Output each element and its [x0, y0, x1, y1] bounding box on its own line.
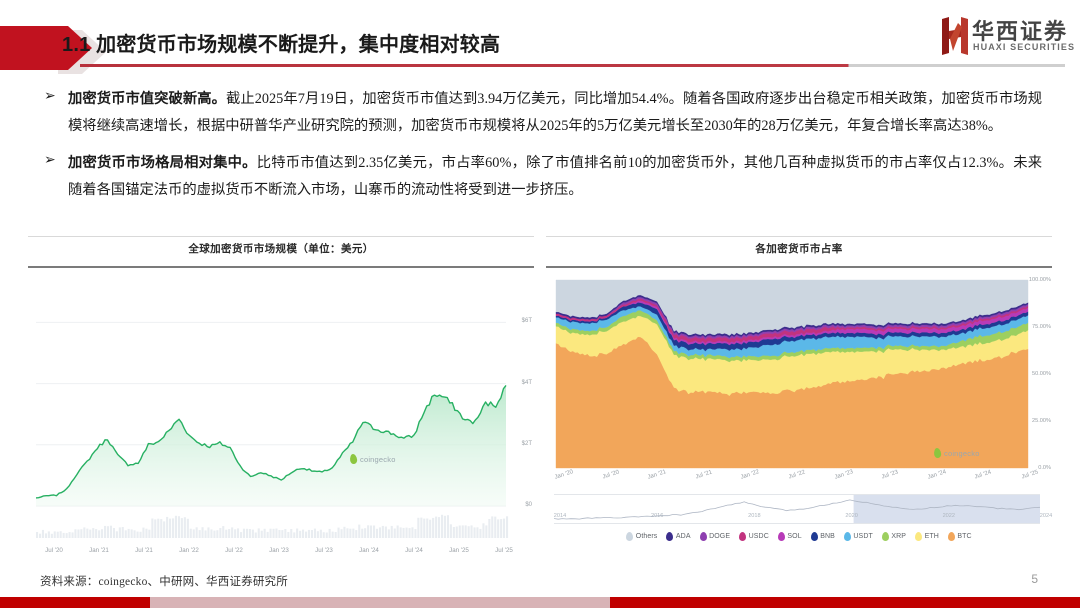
- slide-header: 1.1 加密货币市场规模不断提升，集中度相对较高 华西证券 HUAXI SECU…: [0, 0, 1080, 78]
- volume-bar: [172, 518, 174, 538]
- volume-bar: [468, 526, 470, 538]
- volume-bar: [379, 527, 381, 538]
- legend-swatch-icon: [700, 532, 707, 541]
- volume-bar: [60, 531, 62, 538]
- volume-bar: [432, 518, 434, 538]
- coingecko-watermark: coingecko: [350, 454, 396, 464]
- volume-bar: [414, 529, 416, 538]
- volume-bar: [86, 529, 88, 538]
- volume-bar: [462, 525, 464, 538]
- panel-divider-bottom: [28, 266, 534, 268]
- legend-label: SOL: [787, 533, 801, 540]
- x-axis-tick-label: Jul '20: [45, 547, 63, 554]
- volume-bar: [394, 529, 396, 539]
- volume-bar: [403, 528, 405, 538]
- legend-item-xrp[interactable]: XRP: [882, 532, 906, 541]
- volume-bar: [426, 519, 428, 539]
- volume-bar: [110, 526, 112, 538]
- volume-bar: [178, 516, 180, 538]
- legend-swatch-icon: [811, 532, 818, 541]
- volume-bar: [308, 530, 310, 538]
- y-axis-tick-label: 25.00%: [1032, 418, 1051, 424]
- volume-bar: [213, 531, 215, 538]
- volume-bar: [323, 532, 325, 538]
- volume-bar: [290, 529, 292, 538]
- title-underline: [80, 64, 1065, 67]
- market-cap-plot: [28, 286, 534, 556]
- dominance-chart[interactable]: 0.0%25.00%50.00%75.00%100.00% Jan '20Jul…: [546, 276, 1052, 494]
- coingecko-leaf-icon: [349, 454, 357, 465]
- volume-bar: [270, 529, 272, 538]
- x-axis-tick-label: Jan '25: [449, 547, 469, 554]
- legend-label: Others: [636, 533, 658, 540]
- legend-swatch-icon: [666, 532, 673, 541]
- legend-label: XRP: [891, 533, 906, 540]
- volume-bar: [503, 519, 505, 538]
- volume-bar: [140, 532, 142, 538]
- volume-bar: [181, 518, 183, 538]
- volume-bar: [497, 519, 499, 538]
- panel-divider-top: [546, 236, 1052, 237]
- legend-label: ADA: [676, 533, 691, 540]
- volume-bar: [131, 529, 133, 538]
- watermark-label: coingecko: [944, 449, 980, 458]
- volume-bar: [500, 519, 502, 538]
- volume-bar: [326, 533, 328, 539]
- volume-bar: [57, 532, 59, 538]
- list-item: ➢ 加密货币市值突破新高。截止2025年7月19日，加密货币市值达到3.94万亿…: [42, 86, 1042, 140]
- volume-bar: [122, 527, 124, 538]
- volume-bar: [352, 529, 354, 538]
- x-axis-tick-label: Jan '22: [179, 547, 199, 554]
- chart-caption: 各加密货币市占率: [546, 241, 1052, 256]
- volume-bar: [302, 530, 304, 538]
- volume-bar: [237, 528, 239, 538]
- legend-item-others[interactable]: Others: [626, 532, 657, 541]
- volume-bar: [284, 529, 286, 538]
- volume-bar: [193, 529, 195, 538]
- volume-bar: [476, 527, 478, 538]
- volume-bar: [281, 530, 283, 538]
- volume-bar: [72, 532, 74, 538]
- volume-bar: [409, 528, 411, 538]
- legend-item-btc[interactable]: BTC: [948, 532, 972, 541]
- volume-bar: [190, 529, 192, 538]
- volume-bar: [411, 527, 413, 538]
- volume-bar: [69, 532, 71, 538]
- volume-bar: [346, 528, 348, 538]
- legend-label: USDT: [853, 533, 872, 540]
- volume-bar: [494, 517, 496, 538]
- volume-bar: [258, 528, 260, 538]
- volume-bar: [243, 529, 245, 538]
- volume-bar: [107, 526, 109, 538]
- legend-item-ada[interactable]: ADA: [666, 532, 690, 541]
- volume-bar: [343, 527, 345, 538]
- volume-bar: [154, 519, 156, 538]
- volume-bar: [264, 529, 266, 538]
- volume-bar: [210, 529, 212, 538]
- x-axis-tick-label: Jul '24: [405, 547, 423, 554]
- legend-swatch-icon: [626, 532, 633, 541]
- volume-bar: [39, 534, 41, 538]
- volume-bar: [249, 529, 251, 538]
- volume-bar: [385, 527, 387, 539]
- volume-bar: [113, 528, 115, 538]
- volume-bar: [261, 531, 263, 538]
- volume-bar: [400, 527, 402, 538]
- volume-bar: [246, 529, 248, 538]
- volume-bar: [163, 521, 165, 538]
- volume-bar: [74, 529, 76, 538]
- y-axis-tick-label: 50.00%: [1032, 371, 1051, 377]
- volume-bar: [296, 529, 298, 539]
- volume-bar: [287, 532, 289, 538]
- x-axis-tick-label: Jan '24: [359, 547, 379, 554]
- volume-bar: [429, 520, 431, 538]
- volume-bar: [420, 518, 422, 538]
- volume-bar: [234, 529, 236, 538]
- volume-bar: [417, 518, 419, 538]
- volume-bar: [42, 530, 44, 538]
- volume-bar: [370, 526, 372, 539]
- chart-legend: OthersADADOGEUSDCSOLBNBUSDTXRPETHBTC: [546, 532, 1052, 541]
- volume-bar: [199, 530, 201, 538]
- volume-bar: [134, 530, 136, 538]
- volume-bar: [373, 526, 375, 539]
- volume-bar: [225, 530, 227, 538]
- chart-area: $0$2T$4T$6T Jul '20Jan '21Jul '21Jan '22…: [28, 270, 534, 556]
- legend-swatch-icon: [915, 532, 922, 541]
- volume-bar: [252, 530, 254, 538]
- legend-label: USDC: [749, 533, 769, 540]
- bullet-paragraph: 加密货币市场格局相对集中。比特币市值达到2.35亿美元，市占率60%，除了市值排…: [68, 150, 1042, 204]
- volume-bar: [320, 530, 322, 538]
- volume-bar: [332, 532, 334, 538]
- volume-bar: [479, 529, 481, 538]
- chart-caption: 全球加密货币市场规模（单位：美元）: [28, 241, 534, 256]
- volume-bar: [255, 533, 257, 539]
- panel-divider-bottom: [546, 266, 1052, 268]
- volume-bar: [397, 526, 399, 539]
- volume-bar: [358, 525, 360, 538]
- volume-bar: [125, 530, 127, 538]
- volume-bar: [488, 519, 490, 538]
- y-axis-tick-label: $2T: [522, 441, 532, 447]
- legend-label: ETH: [925, 533, 939, 540]
- y-axis-tick-label: $0: [525, 502, 532, 508]
- volume-bar: [435, 517, 437, 538]
- volume-bar: [45, 533, 47, 538]
- y-axis-tick-label: 0.0%: [1038, 465, 1051, 471]
- volume-bar: [364, 528, 366, 538]
- volume-bar: [128, 529, 130, 538]
- market-cap-chart[interactable]: $0$2T$4T$6T Jul '20Jan '21Jul '21Jan '22…: [28, 286, 534, 556]
- volume-bars: [36, 515, 508, 538]
- volume-bar: [267, 532, 269, 538]
- body-bullets: ➢ 加密货币市值突破新高。截止2025年7月19日，加密货币市值达到3.94万亿…: [42, 86, 1042, 214]
- volume-bar: [89, 530, 91, 538]
- legend-swatch-icon: [882, 532, 889, 541]
- volume-bar: [314, 529, 316, 538]
- volume-bar: [202, 527, 204, 538]
- source-note: 资料来源：coingecko、中研网、华西证券研究所: [40, 573, 288, 589]
- volume-bar: [299, 531, 301, 538]
- stacked-areas: [556, 280, 1028, 468]
- coingecko-watermark: coingecko: [934, 448, 980, 458]
- volume-bar: [382, 526, 384, 538]
- company-logo: 华西证券 HUAXI SECURITIES: [942, 12, 1062, 64]
- volume-bar: [175, 516, 177, 538]
- volume-bar: [142, 528, 144, 538]
- volume-bar: [216, 530, 218, 538]
- footer-bar-highlight: [150, 597, 610, 608]
- volume-bar: [438, 517, 440, 538]
- volume-bar: [169, 519, 171, 538]
- chart-area: 0.0%25.00%50.00%75.00%100.00% Jan '20Jul…: [546, 270, 1052, 556]
- navigator-tick-label: 2020: [845, 513, 857, 519]
- navigator-tick-label: 2024: [1040, 513, 1052, 519]
- legend-swatch-icon: [778, 532, 785, 541]
- volume-bar: [95, 529, 97, 538]
- x-axis-tick-label: Jul '25: [495, 547, 513, 554]
- list-item: ➢ 加密货币市场格局相对集中。比特币市值达到2.35亿美元，市占率60%，除了市…: [42, 150, 1042, 204]
- watermark-label: coingecko: [360, 455, 396, 464]
- legend-item-doge[interactable]: DOGE: [700, 532, 731, 541]
- volume-bar: [240, 532, 242, 538]
- legend-label: BNB: [820, 533, 835, 540]
- volume-bar: [367, 525, 369, 538]
- volume-bar: [222, 526, 224, 538]
- volume-bar: [104, 526, 106, 538]
- legend-item-usdc[interactable]: USDC: [739, 532, 769, 541]
- volume-bar: [376, 529, 378, 538]
- chart-panel-dominance: 各加密货币市占率 0.0%25.00%50.00%75.00%100.00% J…: [546, 236, 1052, 556]
- volume-bar: [355, 530, 357, 538]
- volume-bar: [207, 527, 209, 538]
- volume-bar: [329, 529, 331, 538]
- navigator-tick-label: 2016: [651, 513, 663, 519]
- bullet-paragraph: 加密货币市值突破新高。截止2025年7月19日，加密货币市值达到3.94万亿美元…: [68, 86, 1042, 140]
- volume-bar: [157, 519, 159, 538]
- volume-bar: [148, 530, 150, 538]
- volume-bar: [471, 525, 473, 538]
- volume-bar: [51, 534, 53, 538]
- volume-bar: [101, 529, 103, 538]
- chart-panel-market-cap: 全球加密货币市场规模（单位：美元） $0$2T$4T$6T Jul '20Jan…: [28, 236, 534, 556]
- volume-bar: [166, 517, 168, 538]
- volume-bar: [444, 516, 446, 538]
- x-axis-tick-label: Jan '23: [269, 547, 289, 554]
- legend-label: DOGE: [709, 533, 730, 540]
- volume-bar: [187, 519, 189, 538]
- volume-bar: [317, 531, 319, 538]
- page-title: 1.1 加密货币市场规模不断提升，集中度相对较高: [62, 28, 500, 57]
- volume-bar: [83, 527, 85, 538]
- x-axis-tick-label: Jul '23: [315, 547, 333, 554]
- volume-bar: [447, 515, 449, 538]
- legend-item-sol[interactable]: SOL: [778, 532, 802, 541]
- volume-bar: [151, 519, 153, 539]
- x-axis-tick-label: Jul '21: [135, 547, 153, 554]
- volume-bar: [506, 516, 508, 538]
- navigator-tick-label: 2022: [943, 513, 955, 519]
- legend-swatch-icon: [844, 532, 851, 541]
- navigator-preview: [554, 495, 1040, 523]
- volume-bar: [196, 527, 198, 538]
- dominance-plot: [546, 276, 1052, 476]
- volume-bar: [456, 527, 458, 539]
- volume-bar: [54, 531, 56, 538]
- volume-bar: [77, 530, 79, 539]
- volume-bar: [491, 516, 493, 538]
- volume-bar: [388, 529, 390, 538]
- volume-bar: [219, 528, 221, 538]
- chart-range-navigator[interactable]: 201420162018202020222024: [554, 494, 1040, 524]
- y-axis-tick-label: $4T: [522, 380, 532, 386]
- volume-bar: [92, 528, 94, 538]
- huaxi-h-mark-icon: [942, 17, 968, 55]
- volume-bar: [341, 529, 343, 538]
- volume-bar: [80, 529, 82, 538]
- volume-bar: [278, 530, 280, 538]
- bullet-lead: 加密货币市场格局相对集中。: [68, 155, 257, 171]
- market-cap-area-fill: [36, 385, 506, 506]
- volume-bar: [391, 526, 393, 538]
- panel-divider-top: [28, 236, 534, 237]
- volume-bar: [137, 532, 139, 538]
- y-axis-tick-label: $6T: [522, 318, 532, 324]
- page-number: 5: [1031, 572, 1038, 586]
- legend-swatch-icon: [948, 532, 955, 541]
- volume-bar: [361, 529, 363, 538]
- volume-bar: [474, 527, 476, 538]
- volume-bar: [231, 527, 233, 538]
- volume-bar: [275, 529, 277, 539]
- volume-bar: [450, 524, 452, 538]
- volume-bar: [160, 519, 162, 538]
- volume-bar: [441, 515, 443, 538]
- y-axis-tick-label: 75.00%: [1032, 324, 1051, 330]
- legend-swatch-icon: [739, 532, 746, 541]
- logo-text-en: HUAXI SECURITIES: [973, 42, 1075, 52]
- legend-label: BTC: [957, 533, 971, 540]
- volume-bar: [453, 527, 455, 538]
- volume-bar: [482, 523, 484, 538]
- volume-bar: [459, 526, 461, 539]
- volume-bar: [423, 519, 425, 538]
- volume-bar: [311, 530, 313, 538]
- volume-bar: [116, 531, 118, 538]
- volume-bar: [205, 530, 207, 538]
- legend-item-eth[interactable]: ETH: [915, 532, 939, 541]
- volume-bar: [293, 532, 295, 538]
- volume-bar: [145, 529, 147, 538]
- volume-bar: [66, 533, 68, 538]
- volume-bar: [335, 532, 337, 538]
- volume-bar: [119, 527, 121, 538]
- bullet-arrow-icon: ➢: [44, 88, 56, 104]
- volume-bar: [228, 529, 230, 538]
- coingecko-leaf-icon: [933, 448, 941, 459]
- volume-bar: [36, 532, 38, 538]
- bullet-arrow-icon: ➢: [44, 152, 56, 168]
- volume-bar: [338, 528, 340, 538]
- volume-bar: [184, 517, 186, 538]
- legend-item-bnb[interactable]: BNB: [811, 532, 835, 541]
- y-axis-tick-label: 100.00%: [1029, 277, 1051, 283]
- x-axis-tick-label: Jan '21: [89, 547, 109, 554]
- volume-bar: [273, 529, 275, 538]
- navigator-tick-label: 2014: [554, 513, 566, 519]
- volume-bar: [63, 533, 65, 538]
- volume-bar: [98, 530, 100, 538]
- volume-bar: [305, 532, 307, 538]
- volume-bar: [465, 525, 467, 538]
- volume-bar: [349, 529, 351, 538]
- bullet-lead: 加密货币市值突破新高。: [68, 91, 226, 107]
- volume-bar: [485, 525, 487, 538]
- volume-bar: [406, 528, 408, 538]
- legend-item-usdt[interactable]: USDT: [844, 532, 873, 541]
- navigator-tick-label: 2018: [748, 513, 760, 519]
- x-axis-tick-label: Jul '22: [225, 547, 243, 554]
- volume-bar: [48, 531, 50, 538]
